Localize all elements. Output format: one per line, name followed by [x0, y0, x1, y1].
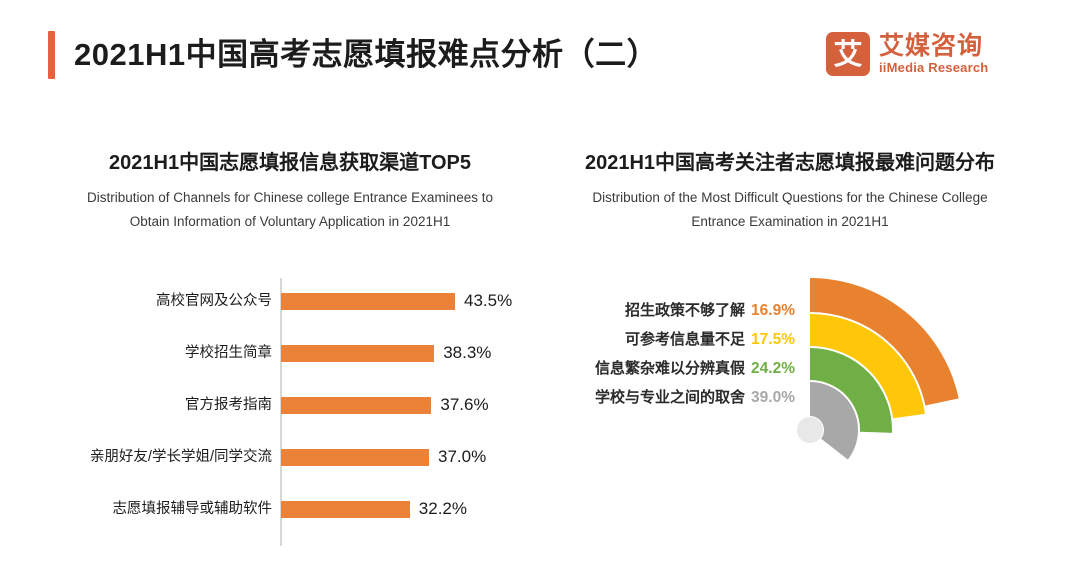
logo-mark-icon: 艾 [826, 32, 870, 76]
radial-legend-label: 信息繁杂难以分辨真假 [595, 360, 745, 377]
slide-header: 2021H1中国高考志愿填报难点分析（二） 艾 艾媒咨询 iiMedia Res… [0, 0, 1080, 110]
radial-legend-label: 可参考信息量不足 [625, 331, 745, 348]
bar-value-label: 37.0% [438, 444, 486, 470]
radial-legend-row: 学校与专业之间的取舍39.0% [560, 383, 795, 412]
bar-category-label: 学校招生简章 [185, 340, 272, 366]
bar-category-label: 志愿填报辅导或辅助软件 [113, 496, 273, 522]
bar-value-label: 38.3% [443, 340, 491, 366]
slide-canvas: 2021H1中国高考志愿填报难点分析（二） 艾 艾媒咨询 iiMedia Res… [0, 0, 1080, 588]
title-accent-bar [48, 31, 55, 79]
page-title: 2021H1中国高考志愿填报难点分析（二） [74, 30, 658, 80]
bar-chart-row: 亲朋好友/学长学姐/同学交流37.0% [40, 444, 540, 470]
bar-value-label: 32.2% [419, 496, 467, 522]
bar-category-label: 官方报考指南 [185, 392, 272, 418]
bar-fill [281, 397, 431, 414]
radial-chart-hub [797, 417, 823, 443]
bar-fill [281, 293, 455, 310]
left-chart-title: 2021H1中国志愿填报信息获取渠道TOP5 [40, 150, 540, 176]
right-chart-title: 2021H1中国高考关注者志愿填报最难问题分布 [540, 150, 1040, 176]
bar-value-label: 43.5% [464, 288, 512, 314]
radial-legend-row: 招生政策不够了解16.9% [560, 296, 795, 325]
right-chart-header: 2021H1中国高考关注者志愿填报最难问题分布 Distribution of … [540, 150, 1040, 234]
left-chart-subtitle-line2: Obtain Information of Voluntary Applicat… [40, 210, 540, 234]
radial-chart: 招生政策不够了解16.9%可参考信息量不足17.5%信息繁杂难以分辨真假24.2… [560, 278, 1040, 546]
logo-text: 艾媒咨询 iiMedia Research [879, 33, 988, 76]
bar-chart-row: 志愿填报辅导或辅助软件32.2% [40, 496, 540, 522]
right-chart-subtitle-line1: Distribution of the Most Difficult Quest… [540, 186, 1040, 210]
bar-fill [281, 345, 434, 362]
left-chart-subtitle-line1: Distribution of Channels for Chinese col… [40, 186, 540, 210]
bar-fill [281, 449, 429, 466]
logo-name-en: iiMedia Research [879, 60, 988, 76]
right-chart-subtitle-line2: Entrance Examination in 2021H1 [540, 210, 1040, 234]
brand-logo: 艾 艾媒咨询 iiMedia Research [826, 30, 988, 78]
bar-value-label: 37.6% [440, 392, 488, 418]
logo-name-cn: 艾媒咨询 [879, 33, 988, 60]
bar-fill [281, 501, 410, 518]
radial-legend-label: 招生政策不够了解 [625, 302, 745, 319]
bar-category-label: 亲朋好友/学长学姐/同学交流 [90, 444, 272, 470]
bar-chart-row: 官方报考指南37.6% [40, 392, 540, 418]
bar-category-label: 高校官网及公众号 [156, 288, 272, 314]
bar-chart-row: 学校招生简章38.3% [40, 340, 540, 366]
radial-legend-row: 可参考信息量不足17.5% [560, 325, 795, 354]
radial-chart-arcs [788, 278, 1038, 508]
bar-chart-row: 高校官网及公众号43.5% [40, 288, 540, 314]
bar-chart: 高校官网及公众号43.5%学校招生简章38.3%官方报考指南37.6%亲朋好友/… [40, 278, 540, 546]
radial-chart-legend: 招生政策不够了解16.9%可参考信息量不足17.5%信息繁杂难以分辨真假24.2… [560, 296, 795, 412]
radial-legend-row: 信息繁杂难以分辨真假24.2% [560, 354, 795, 383]
radial-legend-label: 学校与专业之间的取舍 [595, 389, 745, 406]
left-chart-header: 2021H1中国志愿填报信息获取渠道TOP5 Distribution of C… [40, 150, 540, 234]
